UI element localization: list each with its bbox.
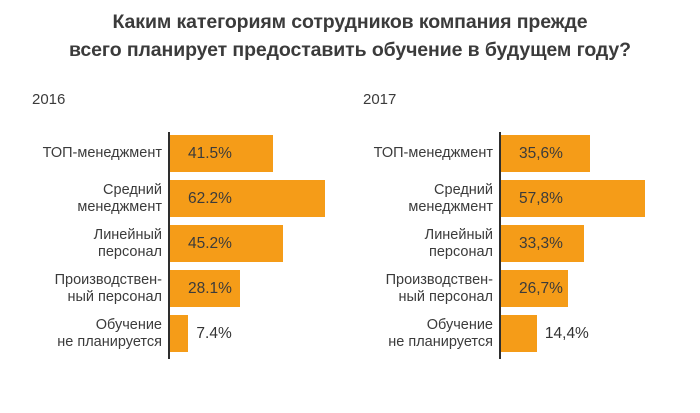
category-label: Производствен-ный персонал [328, 270, 493, 307]
bar-value-label: 28.1% [188, 270, 232, 307]
category-label-line: не планируется [388, 334, 493, 351]
category-label-line: Средний [434, 182, 493, 199]
category-label-line: ный персонал [398, 289, 493, 306]
bar-row: Линейныйперсонал45.2% [0, 225, 350, 262]
category-label: Производствен-ный персонал [0, 270, 162, 307]
bar-value-label: 7.4% [196, 315, 231, 352]
bar-value-label: 41.5% [188, 135, 232, 172]
bar-zone: 62.2% [170, 180, 350, 217]
category-label: Среднийменеджмент [328, 180, 493, 217]
bar-row: Линейныйперсонал33,3% [331, 225, 681, 262]
chart-panel-2016: 2016 ТОП-менеджмент41.5%Среднийменеджмен… [0, 0, 350, 413]
bar-row: Среднийменеджмент62.2% [0, 180, 350, 217]
bar-value-label: 26,7% [519, 270, 563, 307]
category-label-line: не планируется [57, 334, 162, 351]
bar-value-label: 62.2% [188, 180, 232, 217]
bar-zone: 28.1% [170, 270, 350, 307]
category-label-line: персонал [98, 244, 162, 261]
bar[interactable] [501, 315, 537, 352]
category-label-line: Линейный [94, 227, 162, 244]
bar-zone: 7.4% [170, 315, 350, 352]
year-label-2016: 2016 [32, 91, 65, 108]
year-label-2017: 2017 [363, 91, 396, 108]
category-label-line: Производствен- [386, 272, 493, 289]
bar-value-label: 33,3% [519, 225, 563, 262]
bar-zone: 33,3% [501, 225, 681, 262]
bar-rows-2016: ТОП-менеджмент41.5%Среднийменеджмент62.2… [0, 135, 350, 360]
category-label-line: Средний [103, 182, 162, 199]
category-label-line: менеджмент [408, 199, 493, 216]
category-label-line: ТОП-менеджмент [374, 145, 493, 162]
category-label: ТОП-менеджмент [328, 135, 493, 172]
category-label: ТОП-менеджмент [0, 135, 162, 172]
category-label-line: ный персонал [67, 289, 162, 306]
category-label: Линейныйперсонал [0, 225, 162, 262]
bar-zone: 35,6% [501, 135, 681, 172]
bar-value-label: 35,6% [519, 135, 563, 172]
bar-row: Обучениене планируется14,4% [331, 315, 681, 352]
bar-row: Производствен-ный персонал26,7% [331, 270, 681, 307]
category-label-line: Линейный [425, 227, 493, 244]
bar-row: Обучениене планируется7.4% [0, 315, 350, 352]
category-label: Обучениене планируется [328, 315, 493, 352]
bar-row: Среднийменеджмент57,8% [331, 180, 681, 217]
category-label-line: Обучение [427, 317, 493, 334]
bar-value-label: 57,8% [519, 180, 563, 217]
bar-row: ТОП-менеджмент35,6% [331, 135, 681, 172]
bar-row: Производствен-ный персонал28.1% [0, 270, 350, 307]
bar[interactable] [170, 315, 188, 352]
bar-value-label: 45.2% [188, 225, 232, 262]
category-label: Обучениене планируется [0, 315, 162, 352]
bar-zone: 41.5% [170, 135, 350, 172]
category-label-line: Производствен- [55, 272, 162, 289]
bar-zone: 14,4% [501, 315, 681, 352]
chart-panel-2017: 2017 ТОП-менеджмент35,6%Среднийменеджмен… [331, 0, 681, 413]
category-label-line: Обучение [96, 317, 162, 334]
bar-zone: 57,8% [501, 180, 681, 217]
bar-value-label: 14,4% [545, 315, 589, 352]
category-label-line: ТОП-менеджмент [43, 145, 162, 162]
bar-zone: 45.2% [170, 225, 350, 262]
category-label-line: менеджмент [77, 199, 162, 216]
bar-rows-2017: ТОП-менеджмент35,6%Среднийменеджмент57,8… [331, 135, 681, 360]
category-label: Среднийменеджмент [0, 180, 162, 217]
category-label-line: персонал [429, 244, 493, 261]
bar-zone: 26,7% [501, 270, 681, 307]
category-label: Линейныйперсонал [328, 225, 493, 262]
bar-row: ТОП-менеджмент41.5% [0, 135, 350, 172]
